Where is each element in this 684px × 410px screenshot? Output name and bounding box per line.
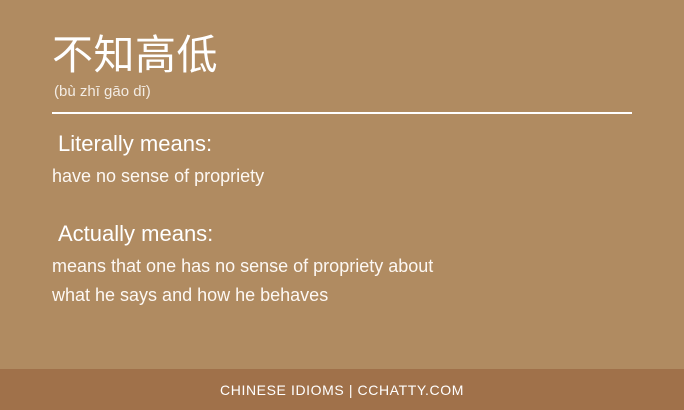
section-heading-literal: Literally means: bbox=[58, 129, 632, 158]
section-body-literal: have no sense of propriety bbox=[52, 162, 632, 191]
section-heading-actual: Actually means: bbox=[58, 219, 632, 248]
meaning-line: means that one has no sense of propriety… bbox=[52, 252, 632, 281]
section-literal-meaning: Literally means: have no sense of propri… bbox=[52, 129, 632, 191]
idiom-card: 不知高低 (bù zhī gāo dī) Literally means: ha… bbox=[0, 0, 684, 410]
idiom-characters: 不知高低 bbox=[52, 30, 218, 80]
meaning-line: what he says and how he behaves bbox=[52, 281, 632, 310]
idiom-pinyin: (bù zhī gāo dī) bbox=[54, 82, 151, 102]
footer-bar: CHINESE IDIOMS | CCHATTY.COM bbox=[0, 369, 684, 410]
card-content: 不知高低 (bù zhī gāo dī) Literally means: ha… bbox=[52, 0, 632, 369]
section-actual-meaning: Actually means: means that one has no se… bbox=[52, 219, 632, 310]
meaning-line: have no sense of propriety bbox=[52, 162, 632, 191]
header-divider bbox=[52, 112, 632, 114]
footer-branding: CHINESE IDIOMS | CCHATTY.COM bbox=[220, 382, 464, 398]
section-body-actual: means that one has no sense of propriety… bbox=[52, 252, 632, 310]
